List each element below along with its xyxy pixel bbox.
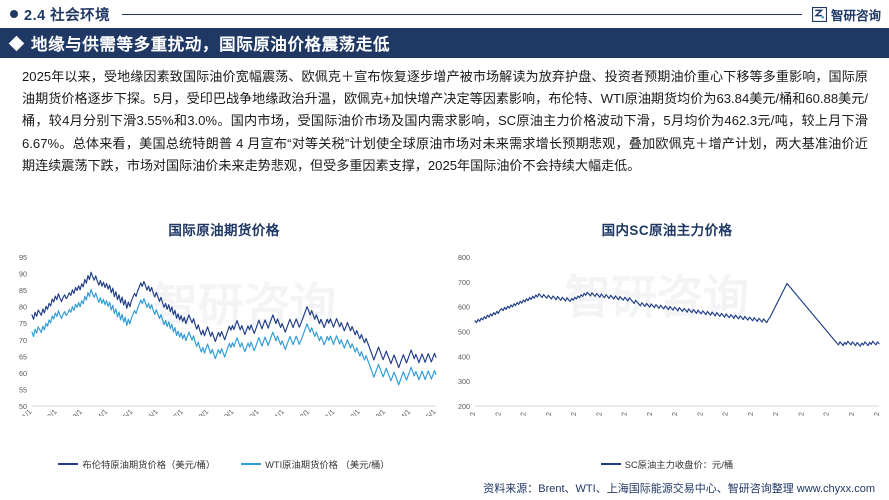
y-axis-tick-label: 500 xyxy=(458,328,470,337)
y-axis-tick-label: 400 xyxy=(458,352,470,361)
chart-domestic-sc-crude: 国内SC原油主力价格 智研咨询 200300400500600700800202… xyxy=(445,214,889,479)
x-axis-tick-label: 2024/12/1 xyxy=(283,407,311,416)
x-axis-tick-label: 2024/7/2 xyxy=(620,412,629,416)
y-axis-tick-label: 300 xyxy=(458,377,470,386)
legend-swatch xyxy=(241,463,261,465)
brand-logo: 智研咨询 xyxy=(812,5,881,24)
y-axis-tick-label: 700 xyxy=(458,278,470,287)
legend-item: 布伦特原油期货价格（美元/桶） xyxy=(58,457,215,471)
y-axis-tick-label: 55 xyxy=(19,385,27,394)
x-axis-tick-label: 2024/6/1 xyxy=(134,407,159,416)
x-axis-tick-label: 2025/5/2 xyxy=(872,412,881,416)
x-axis-tick-label: 2025/1/1 xyxy=(311,407,336,416)
x-axis-tick-label: 2024/10/2 xyxy=(695,412,704,416)
x-axis-tick-label: 2025/5/1 xyxy=(412,407,437,416)
x-axis-tick-label: 2025/3/1 xyxy=(362,407,387,416)
x-axis-tick-label: 2024/10/1 xyxy=(233,407,261,416)
y-axis-tick-label: 85 xyxy=(19,286,27,295)
chart-title: 国内SC原油主力价格 xyxy=(445,219,889,239)
series-line xyxy=(32,289,436,384)
y-axis-tick-label: 200 xyxy=(458,402,470,411)
charts-area: 国际原油期货价格 智研咨询 505560657075808590952024/1… xyxy=(0,214,889,479)
section-title-bar: 地缘与供需等多重扰动，国际原油价格震荡走低 xyxy=(0,28,889,58)
y-axis-tick-label: 80 xyxy=(19,303,27,312)
y-axis-tick-label: 70 xyxy=(19,336,27,345)
x-axis-tick-label: 2025/3/2 xyxy=(822,412,831,416)
x-axis-tick-label: 2025/2/2 xyxy=(796,412,805,416)
x-axis-tick-label: 2024/12/2 xyxy=(746,412,755,416)
y-axis-tick-label: 65 xyxy=(19,352,27,361)
x-axis-tick-label: 2024/4/2 xyxy=(544,412,553,416)
chart-legend: 布伦特原油期货价格（美元/桶） WTI原油期货价格 （美元/桶） xyxy=(2,457,446,471)
brand-name: 智研咨询 xyxy=(831,5,881,24)
y-axis-tick-label: 75 xyxy=(19,319,27,328)
x-axis-tick-label: 2024/3/1 xyxy=(59,407,84,416)
y-axis-tick-label: 800 xyxy=(458,253,470,262)
x-axis-tick-label: 2024/1/2 xyxy=(468,412,477,416)
legend-label: 布伦特原油期货价格（美元/桶） xyxy=(82,457,215,471)
legend-label: WTI原油期货价格 （美元/桶） xyxy=(265,457,389,471)
x-axis-tick-label: 2024/3/2 xyxy=(519,412,528,416)
x-axis-tick-label: 2025/4/1 xyxy=(387,407,412,416)
legend-item: SC原油主力收盘价：元/桶 xyxy=(601,457,733,471)
legend-label: SC原油主力收盘价：元/桶 xyxy=(625,457,733,471)
y-axis-tick-label: 60 xyxy=(19,369,27,378)
legend-swatch xyxy=(58,463,78,465)
line-chart-svg: 505560657075808590952024/1/12024/2/12024… xyxy=(2,251,446,416)
x-axis-tick-label: 2024/11/1 xyxy=(258,407,286,416)
x-axis-tick-label: 2024/9/1 xyxy=(210,407,235,416)
page-header: 2.4 社会环境 智研咨询 xyxy=(0,0,889,28)
plot-area: 智研咨询 2003004005006007008002024/1/22024/2… xyxy=(445,251,889,416)
chart-international-crude-futures: 国际原油期货价格 智研咨询 505560657075808590952024/1… xyxy=(2,214,446,479)
zhiyan-logo-icon xyxy=(812,7,827,22)
y-axis-tick-label: 600 xyxy=(458,303,470,312)
x-axis-tick-label: 2025/4/2 xyxy=(847,412,856,416)
x-axis-tick-label: 2024/6/2 xyxy=(594,412,603,416)
legend-swatch xyxy=(601,463,621,465)
series-line xyxy=(32,272,436,367)
x-axis-tick-label: 2024/2/1 xyxy=(33,407,58,416)
x-axis-tick-label: 2025/2/1 xyxy=(336,407,361,416)
x-axis-tick-label: 2024/11/2 xyxy=(721,412,730,416)
x-axis-tick-label: 2024/8/1 xyxy=(185,407,210,416)
y-axis-tick-label: 95 xyxy=(19,253,27,262)
x-axis-tick-label: 2024/8/2 xyxy=(645,412,654,416)
x-axis-tick-label: 2024/5/2 xyxy=(569,412,578,416)
source-text: 资料来源：Brent、WTI、上海国际能源交易中心、智研咨询整理 www.chy… xyxy=(483,483,875,495)
diamond-icon xyxy=(9,35,25,51)
x-axis-tick-label: 2024/4/1 xyxy=(84,407,109,416)
section-title: 2.4 社会环境 xyxy=(24,4,110,25)
chart-title: 国际原油期货价格 xyxy=(2,219,446,239)
series-line xyxy=(475,284,879,347)
x-axis-tick-label: 2025/1/2 xyxy=(771,412,780,416)
x-axis-tick-label: 2024/2/2 xyxy=(493,412,502,416)
chart-legend: SC原油主力收盘价：元/桶 xyxy=(445,457,889,471)
x-axis-tick-label: 2024/5/1 xyxy=(109,407,134,416)
section-heading: 地缘与供需等多重扰动，国际原油价格震荡走低 xyxy=(31,31,390,55)
header-divider xyxy=(122,14,802,15)
x-axis-tick-label: 2024/7/1 xyxy=(160,407,185,416)
line-chart-svg: 2003004005006007008002024/1/22024/2/2202… xyxy=(445,251,889,416)
plot-area: 智研咨询 505560657075808590952024/1/12024/2/… xyxy=(2,251,446,416)
y-axis-tick-label: 90 xyxy=(19,270,27,279)
source-footer: 资料来源：Brent、WTI、上海国际能源交易中心、智研咨询整理 www.chy… xyxy=(0,480,889,496)
x-axis-tick-label: 2024/9/2 xyxy=(670,412,679,416)
body-paragraph: 2025年以来，受地缘因素致国际油价宽幅震荡、欧佩克＋宣布恢复逐步增产被市场解读… xyxy=(22,66,868,177)
legend-item: WTI原油期货价格 （美元/桶） xyxy=(241,457,389,471)
dot-icon xyxy=(10,10,18,18)
